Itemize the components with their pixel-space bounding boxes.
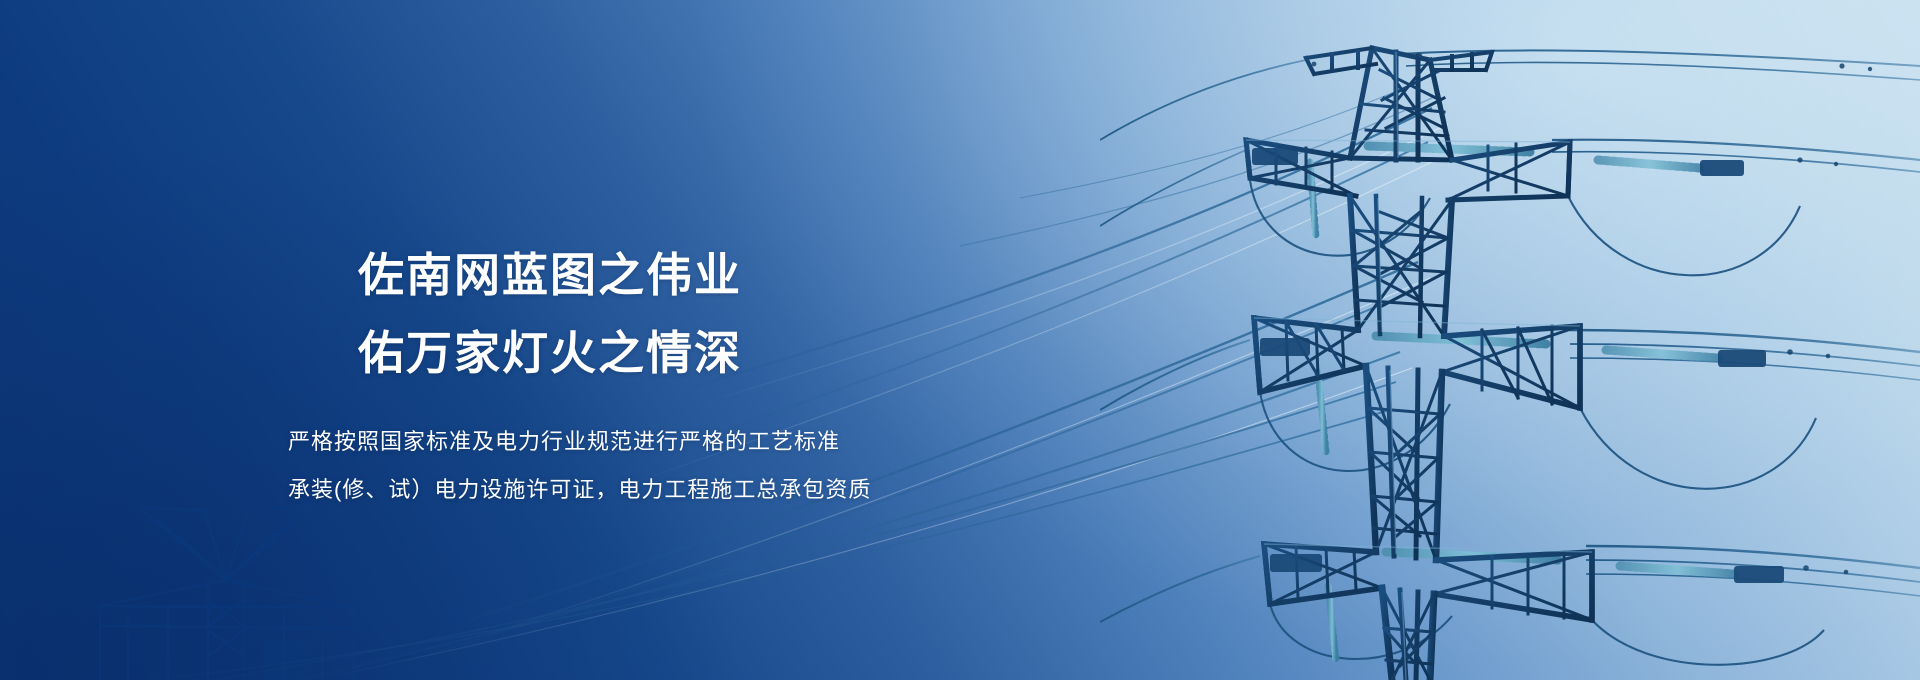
headline-line-2: 佑万家灯火之情深 — [288, 314, 1268, 392]
subtitle-line-2: 承装(修、试）电力设施许可证，电力工程施工总承包资质 — [288, 466, 1268, 514]
subtitle-line-1: 严格按照国家标准及电力行业规范进行严格的工艺标准 — [288, 418, 1268, 466]
headline-line-1: 佐南网蓝图之伟业 — [288, 236, 1268, 314]
hero-banner: 佐南网蓝图之伟业 佑万家灯火之情深 严格按照国家标准及电力行业规范进行严格的工艺… — [0, 0, 1920, 680]
subtitle-group: 严格按照国家标准及电力行业规范进行严格的工艺标准 承装(修、试）电力设施许可证，… — [288, 418, 1268, 514]
banner-copy: 佐南网蓝图之伟业 佑万家灯火之情深 严格按照国家标准及电力行业规范进行严格的工艺… — [288, 236, 1268, 514]
